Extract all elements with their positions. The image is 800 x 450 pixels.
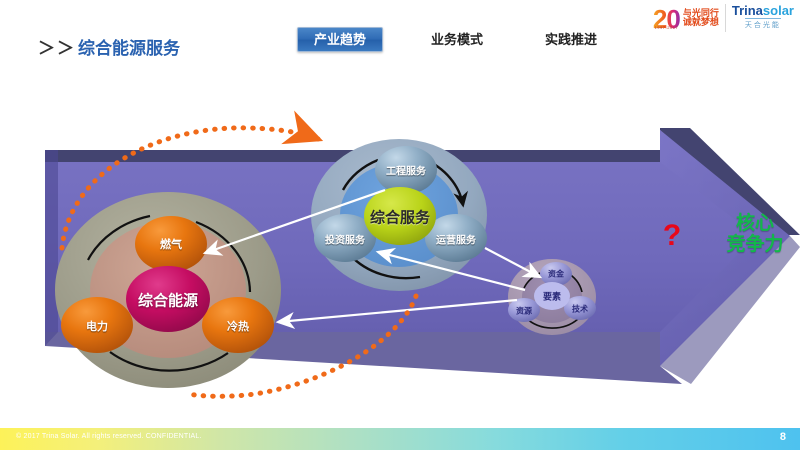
- energy-satellite-power: [61, 297, 133, 353]
- service-center-ellipse: [364, 187, 436, 245]
- energy-satellite-gas: [135, 216, 207, 272]
- service-cluster: [311, 139, 487, 291]
- footer-bar: © 2017 Trina Solar. All rights reserved.…: [0, 428, 800, 450]
- slide-canvas: ＞＞综合能源服务 产业趋势 业务模式 实践推进 20 1997-2017 与光同…: [0, 0, 800, 450]
- energy-center-ellipse: [126, 266, 210, 332]
- service-satellite-engineering: [375, 146, 437, 194]
- diagram-svg: [0, 0, 800, 450]
- footer-copyright: © 2017 Trina Solar. All rights reserved.…: [16, 433, 202, 440]
- resource-center-ellipse: [534, 282, 570, 310]
- resource-satellite-resource: [508, 298, 540, 322]
- diagram-stage: 燃气 电力 冷热 综合能源 工程服务 投资服务 运营服务 综合服务 资金 资源 …: [0, 0, 800, 450]
- energy-cluster: [55, 192, 281, 388]
- footer-page-number: 8: [780, 431, 786, 443]
- energy-satellite-cooling-heating: [202, 297, 274, 353]
- resource-cluster: [508, 259, 596, 335]
